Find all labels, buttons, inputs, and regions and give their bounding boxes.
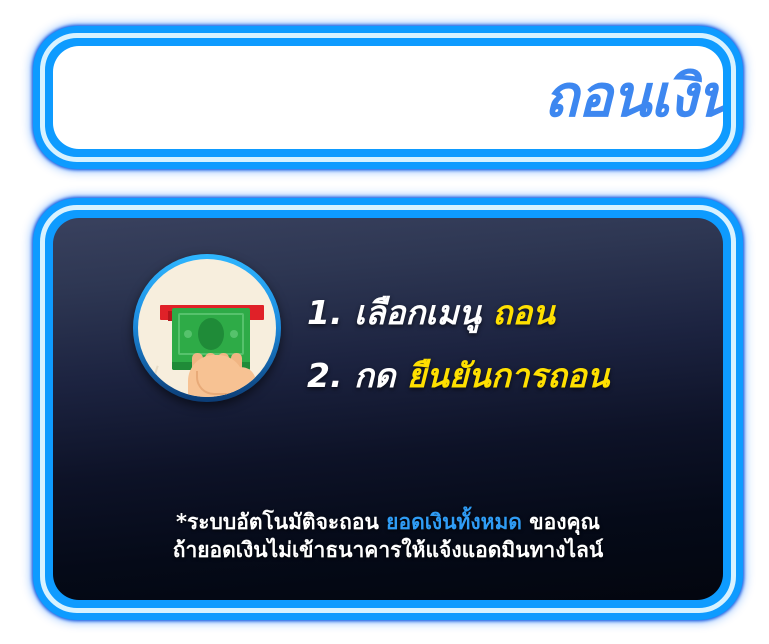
header-card: ถอนเงิน	[33, 26, 743, 169]
footnote-line-1-part-a: *ระบบอัตโนมัติจะถอน	[176, 510, 379, 534]
footnote-line-2: ถ้ายอดเงินไม่เข้าธนาคารให้แจ้งแอดมินทางไ…	[53, 536, 723, 564]
banknote-dot-left	[184, 330, 192, 338]
steps-list: 1. เลือกเมนู ถอน 2. กด ยืนยันการถอน	[307, 296, 723, 393]
step-1-highlight: ถอน	[492, 293, 554, 332]
banknote-dot-right	[230, 330, 238, 338]
page-title: ถอนเงิน	[544, 67, 723, 125]
atm-cash-withdrawal-icon	[133, 254, 281, 402]
header-card-body: ถอนเงิน	[53, 46, 723, 149]
step-item-1: 1. เลือกเมนู ถอน	[307, 296, 723, 331]
step-1-text: เลือกเมนู	[354, 293, 481, 332]
step-2-number: 2.	[307, 356, 343, 395]
instructions-card: 1. เลือกเมนู ถอน 2. กด ยืนยันการถอน *ระบ…	[33, 198, 743, 620]
instructions-card-body: 1. เลือกเมนู ถอน 2. กด ยืนยันการถอน *ระบ…	[53, 218, 723, 600]
footnote: *ระบบอัตโนมัติจะถอน ยอดเงินทั้งหมด ของคุ…	[53, 508, 723, 565]
footnote-line-1: *ระบบอัตโนมัติจะถอน ยอดเงินทั้งหมด ของคุ…	[53, 508, 723, 536]
icon-disc	[138, 259, 276, 397]
step-2-highlight: ยืนยันการถอน	[407, 356, 609, 395]
sparkle-icon	[152, 366, 168, 385]
step-1-number: 1.	[307, 293, 343, 332]
banknote-oval	[198, 318, 224, 350]
banner-stage: ถอนเงิน	[0, 0, 769, 644]
footnote-line-1-part-b: ของคุณ	[529, 510, 600, 534]
step-item-2: 2. กด ยืนยันการถอน	[307, 359, 723, 394]
step-2-text: กด	[354, 356, 395, 395]
footnote-line-1-highlight: ยอดเงินทั้งหมด	[386, 510, 522, 534]
